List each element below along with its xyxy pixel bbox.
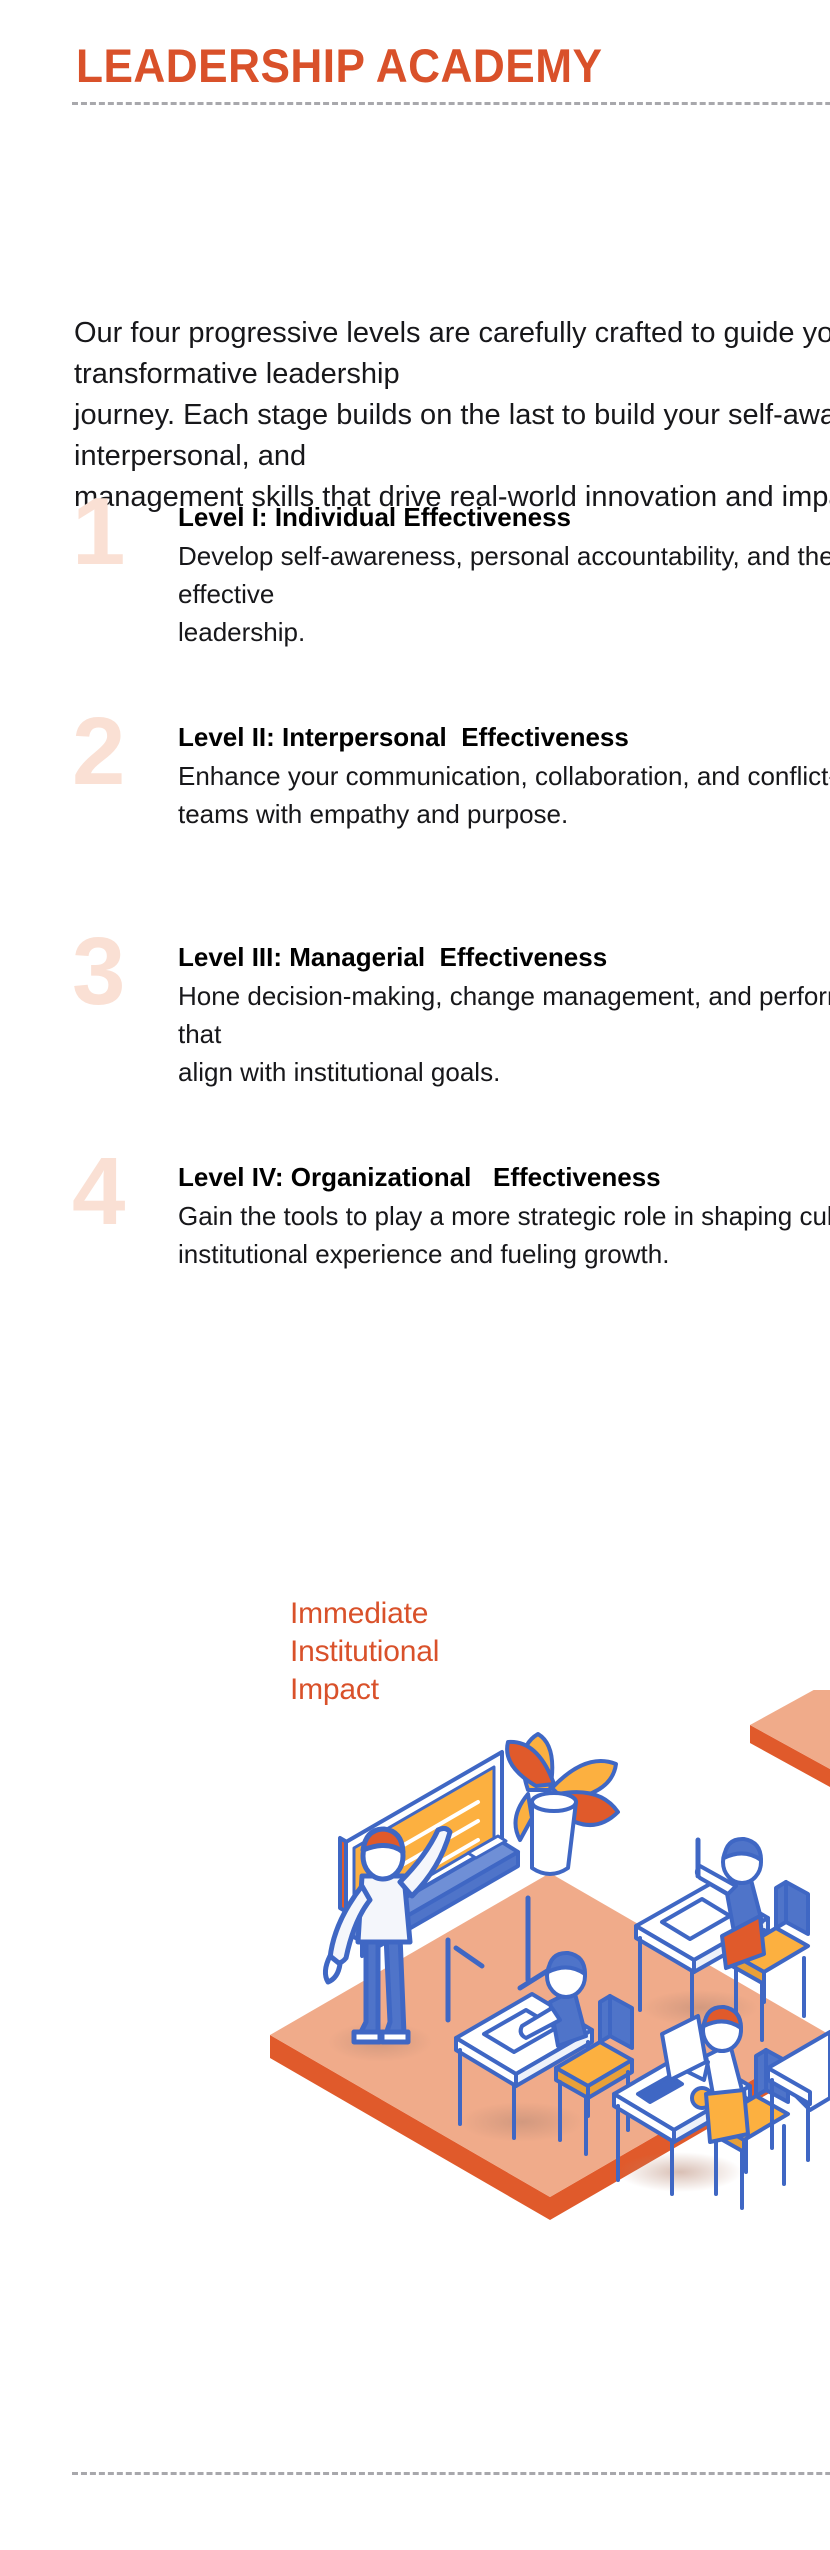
secondary-platform xyxy=(750,1690,830,1820)
isometric-classroom-illustration xyxy=(270,1690,830,2340)
level-number-1: 1 xyxy=(72,484,150,580)
level-description-4: Gain the tools to play a more strategic … xyxy=(178,1197,830,1273)
level-body-4: Level IV: Organizational Effectiveness G… xyxy=(178,1160,830,1273)
level-heading-1: Level I: Individual Effectiveness xyxy=(178,500,830,534)
level-item-1: 1 Level I: Individual Effectiveness Deve… xyxy=(0,500,830,610)
level-heading-3: Level III: Managerial Effectiveness xyxy=(178,940,830,974)
level-body-3: Level III: Managerial Effectiveness Hone… xyxy=(178,940,830,1091)
impact-section: Immediate Institutional Impact xyxy=(0,1570,830,2350)
level-description-2: Enhance your communication, collaboratio… xyxy=(178,757,830,833)
bottom-divider xyxy=(72,2472,830,2475)
potted-plant xyxy=(507,1734,618,1874)
level-description-1: Develop self-awareness, personal account… xyxy=(178,537,830,651)
level-item-3: 3 Level III: Managerial Effectiveness Ho… xyxy=(0,940,830,1050)
page-title: LEADERSHIP ACADEMY xyxy=(76,40,602,92)
intro-paragraph: Our four progressive levels are carefull… xyxy=(74,313,830,518)
level-body-2: Level II: Interpersonal Effectiveness En… xyxy=(178,720,830,833)
level-item-2: 2 Level II: Interpersonal Effectiveness … xyxy=(0,720,830,830)
title-divider xyxy=(72,102,830,105)
level-description-3: Hone decision-making, change management,… xyxy=(178,977,830,1091)
level-heading-4: Level IV: Organizational Effectiveness xyxy=(178,1160,830,1194)
level-item-4: 4 Level IV: Organizational Effectiveness… xyxy=(0,1160,830,1270)
level-number-2: 2 xyxy=(72,704,150,800)
levels-list: 1 Level I: Individual Effectiveness Deve… xyxy=(0,500,830,1380)
level-number-3: 3 xyxy=(72,924,150,1020)
level-heading-2: Level II: Interpersonal Effectiveness xyxy=(178,720,830,754)
level-body-1: Level I: Individual Effectiveness Develo… xyxy=(178,500,830,651)
page-root: LEADERSHIP ACADEMY Our four progressive … xyxy=(0,0,830,2550)
level-number-4: 4 xyxy=(72,1144,150,1240)
